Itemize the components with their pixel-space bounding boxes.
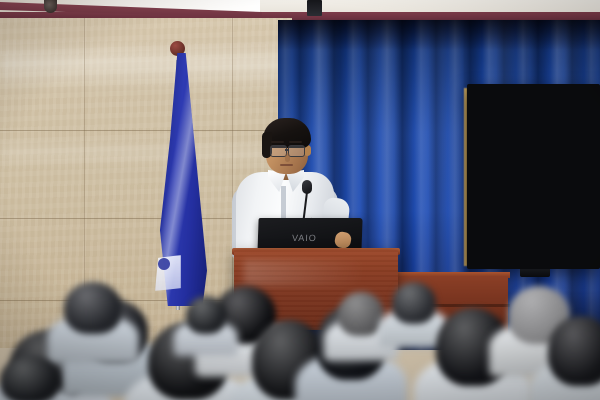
speaker-eyebrow-left bbox=[271, 141, 284, 143]
presentation-display[interactable] bbox=[467, 84, 600, 269]
conference-hall-photo: VAIO bbox=[0, 0, 600, 400]
flag-emblem-mark bbox=[158, 258, 170, 270]
wall-highlight-2 bbox=[0, 138, 292, 168]
wall-seam bbox=[0, 130, 292, 131]
speaker-eyebrow-right bbox=[289, 141, 302, 143]
audience-head bbox=[548, 316, 600, 386]
display-stand bbox=[520, 269, 550, 277]
audience-head bbox=[186, 296, 226, 334]
gooseneck-microphone-icon[interactable] bbox=[302, 180, 312, 194]
laptop-brand-label: VAIO bbox=[292, 233, 335, 243]
wall-highlight bbox=[0, 40, 292, 92]
ceiling-spotlight-icon bbox=[44, 0, 57, 13]
ceiling-projector-icon bbox=[307, 0, 322, 16]
podium-highlight bbox=[244, 260, 364, 286]
audience-head bbox=[392, 282, 436, 324]
curtain-top-shadow bbox=[278, 20, 600, 50]
eyeglasses-lens-right bbox=[288, 145, 305, 157]
speaker-nose bbox=[285, 153, 290, 162]
audience-head bbox=[338, 292, 384, 336]
audience-head bbox=[64, 282, 122, 334]
eyeglasses-bridge bbox=[285, 149, 289, 151]
audience-head bbox=[0, 356, 60, 400]
